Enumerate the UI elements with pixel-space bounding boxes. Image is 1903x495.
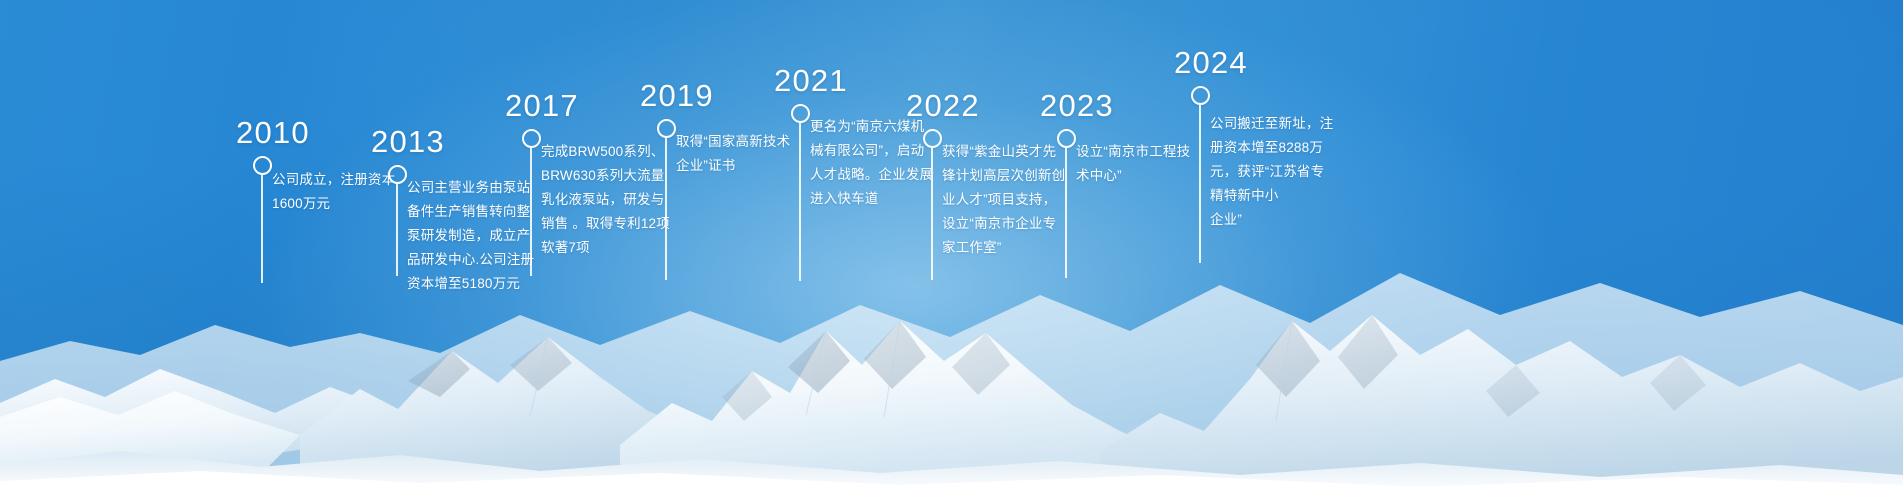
timeline-marker-circle-2021[interactable] <box>791 104 810 123</box>
timeline-marker-circle-2023[interactable] <box>1057 129 1076 148</box>
timeline-stem-line-2021 <box>799 123 801 281</box>
timeline-marker-circle-2019[interactable] <box>657 119 676 138</box>
timeline-stem-line-2019 <box>665 138 667 280</box>
timeline-description-2010: 公司成立，注册资本 1600万元 <box>272 168 402 216</box>
timeline-year-label-2019: 2019 <box>640 78 714 114</box>
timeline-year-label-2022: 2022 <box>906 88 980 124</box>
timeline-description-2019: 取得“国家高新技术 企业”证书 <box>676 130 811 178</box>
timeline-track: 2010 公司成立，注册资本 1600万元 2013 公司主营业务由泵站 备件生… <box>0 0 1903 495</box>
timeline-year-label-2017: 2017 <box>505 88 579 124</box>
timeline-marker-circle-2022[interactable] <box>923 129 942 148</box>
timeline-description-2023: 设立“南京市工程技 术中心” <box>1076 140 1211 188</box>
timeline-description-2013: 公司主营业务由泵站 备件生产销售转向整 泵研发制造，成立产 品研发中心.公司注册… <box>407 176 542 296</box>
timeline-year-label-2010: 2010 <box>236 115 310 151</box>
timeline-year-label-2013: 2013 <box>371 124 445 160</box>
timeline-description-2017: 完成BRW500系列、 BRW630系列大流量 乳化液泵站，研发与 销售 。取得… <box>541 140 676 260</box>
timeline-infographic: 2010 公司成立，注册资本 1600万元 2013 公司主营业务由泵站 备件生… <box>0 0 1903 495</box>
timeline-year-label-2021: 2021 <box>774 63 848 99</box>
timeline-description-2024: 公司搬迁至新址，注 册资本增至8288万 元，获评“江苏省专 精特新中小 企业” <box>1210 112 1350 232</box>
timeline-stem-line-2024 <box>1199 105 1201 263</box>
timeline-stem-line-2010 <box>261 175 263 283</box>
timeline-year-label-2023: 2023 <box>1040 88 1114 124</box>
timeline-marker-circle-2010[interactable] <box>253 156 272 175</box>
timeline-stem-line-2013 <box>396 184 398 276</box>
timeline-marker-circle-2017[interactable] <box>522 129 541 148</box>
timeline-stem-line-2023 <box>1065 148 1067 278</box>
timeline-marker-circle-2024[interactable] <box>1191 86 1210 105</box>
timeline-stem-line-2017 <box>530 148 532 276</box>
timeline-year-label-2024: 2024 <box>1174 45 1248 81</box>
timeline-stem-line-2022 <box>931 148 933 280</box>
timeline-marker-circle-2013[interactable] <box>388 165 407 184</box>
timeline-description-2022: 获得“紫金山英才先 锋计划高层次创新创 业人才”项目支持， 设立“南京市企业专 … <box>942 140 1080 260</box>
